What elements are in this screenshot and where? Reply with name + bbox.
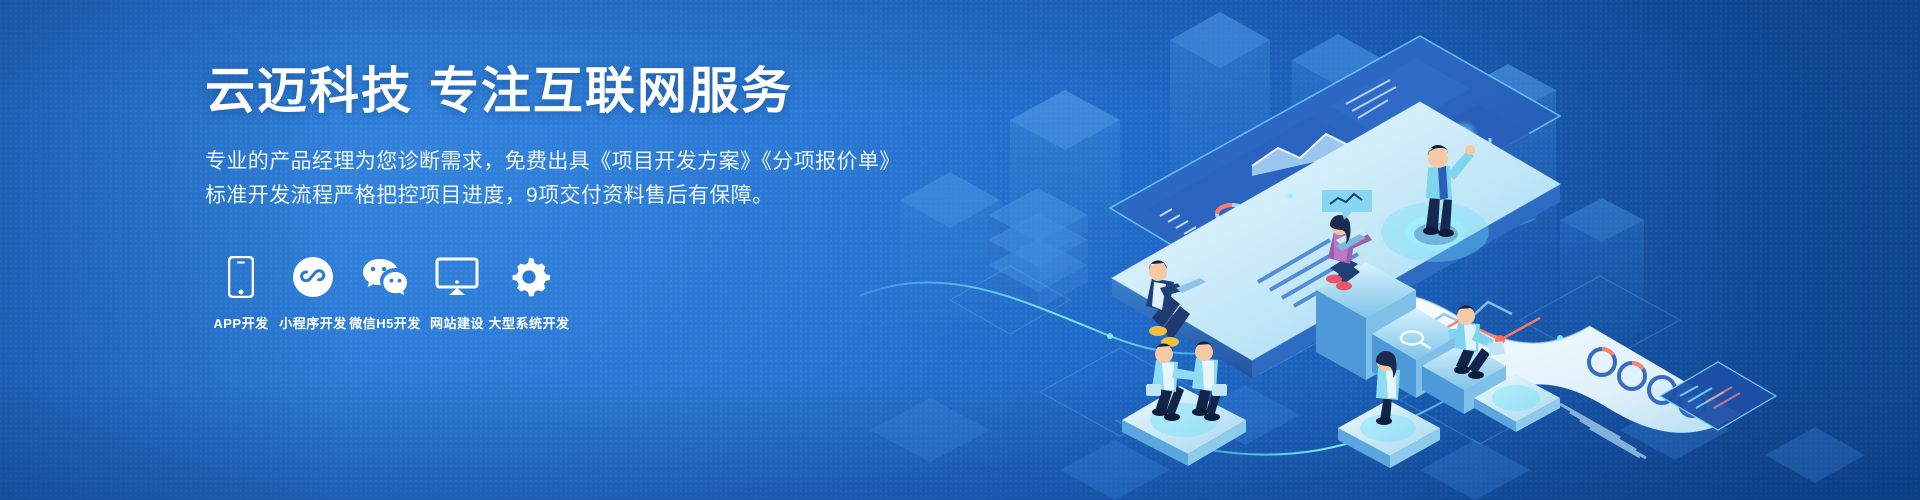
gear-icon	[508, 255, 550, 299]
subtitle-line-2: 标准开发流程严格把控项目进度，9项交付资料售后有保障。	[205, 179, 965, 213]
mini-program-icon	[292, 255, 334, 299]
page-title: 云迈科技 专注互联网服务	[205, 64, 965, 119]
service-label-wechat: 微信H5开发	[349, 313, 421, 332]
subtitle-block: 专业的产品经理为您诊断需求，免费出具《项目开发方案》《分项报价单》 标准开发流程…	[205, 145, 965, 213]
service-label-system: 大型系统开发	[489, 313, 570, 332]
phone-icon	[228, 255, 254, 299]
hero-content: 云迈科技 专注互联网服务 专业的产品经理为您诊断需求，免费出具《项目开发方案》《…	[205, 64, 965, 332]
wechat-icon	[362, 255, 408, 299]
service-label-app: APP开发	[213, 313, 268, 332]
service-item-website[interactable]: 网站建设	[421, 255, 493, 332]
hero-banner: 云迈科技 专注互联网服务 专业的产品经理为您诊断需求，免费出具《项目开发方案》《…	[0, 0, 1920, 500]
monitor-icon	[435, 255, 479, 299]
service-label-website: 网站建设	[430, 313, 484, 332]
service-item-miniprogram[interactable]: 小程序开发	[277, 255, 349, 332]
service-item-system[interactable]: 大型系统开发	[493, 255, 565, 332]
service-icon-row: APP开发 小程序开发	[205, 255, 965, 332]
isometric-illustration	[860, 0, 1920, 500]
service-item-wechat[interactable]: 微信H5开发	[349, 255, 421, 332]
subtitle-line-1: 专业的产品经理为您诊断需求，免费出具《项目开发方案》《分项报价单》	[205, 145, 965, 179]
service-item-app[interactable]: APP开发	[205, 255, 277, 332]
service-label-miniprogram: 小程序开发	[279, 313, 347, 332]
